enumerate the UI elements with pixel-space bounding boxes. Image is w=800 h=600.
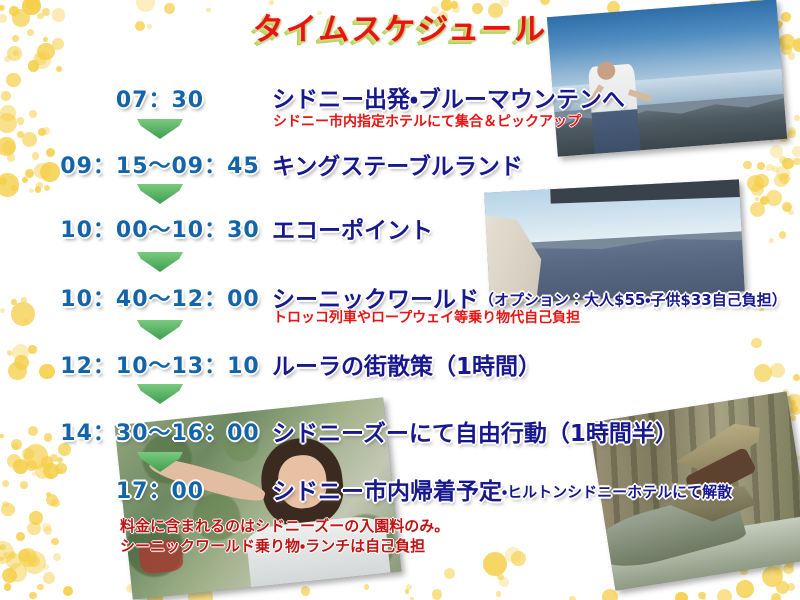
schedule-subtitle-1: シドニー市内指定ホテルにて集合＆ピックアップ: [273, 111, 581, 131]
flow-arrow-5: [137, 384, 183, 404]
page-title: タイムスケジュール: [0, 4, 800, 49]
flow-arrow-1: [137, 119, 183, 139]
schedule-time-1: 07：30: [60, 82, 260, 114]
schedule-event-2: キングステーブルランド: [272, 147, 523, 181]
schedule-event-3: エコーポイント: [272, 211, 433, 245]
schedule-event-1: シドニー出発・ブルーマウンテンへ: [272, 80, 625, 114]
footnote: 料金に含まれるのはシドニーズーの入園料のみ。 シーニックワールド乗り物・ランチは…: [120, 516, 449, 557]
footnote-line-2: シーニックワールド乗り物・ランチは自己負担: [120, 536, 449, 556]
schedule-time-5: 12：10～13：10: [60, 348, 260, 380]
flow-arrow-6: [137, 452, 183, 472]
schedule-time-7: 17：00: [60, 473, 260, 505]
schedule-event-7-label: シドニー市内帰着予定: [272, 479, 502, 505]
schedule-subtitle-4: トロッコ列車やロープウェイ等乗り物代自己負担: [273, 307, 580, 327]
time-schedule-poster: タイムスケジュール 07：30 シドニー出発・ブルーマウンテンへ シドニー市内指…: [0, 0, 800, 600]
footnote-line-1: 料金に含まれるのはシドニーズーの入園料のみ。: [120, 516, 449, 536]
flow-arrow-3: [137, 252, 183, 272]
schedule-time-2: 09：15～09：45: [60, 148, 260, 180]
flow-arrow-4: [137, 320, 183, 340]
schedule-event-7: シドニー市内帰着予定・ヒルトンシドニーホテルにて解散: [272, 472, 732, 506]
schedule-event-5: ルーラの街散策（1時間）: [272, 347, 541, 381]
schedule-time-3: 10：00～10：30: [60, 212, 260, 244]
flow-arrow-2: [137, 184, 183, 204]
schedule-event-7-tail: ・ヒルトンシドニーホテルにて解散: [502, 483, 732, 501]
schedule-time-6: 14：30～16：00: [60, 415, 260, 447]
schedule-event-6: シドニーズーにて自由行動（1時間半）: [272, 414, 678, 448]
schedule-time-4: 10：40～12：00: [60, 281, 260, 313]
